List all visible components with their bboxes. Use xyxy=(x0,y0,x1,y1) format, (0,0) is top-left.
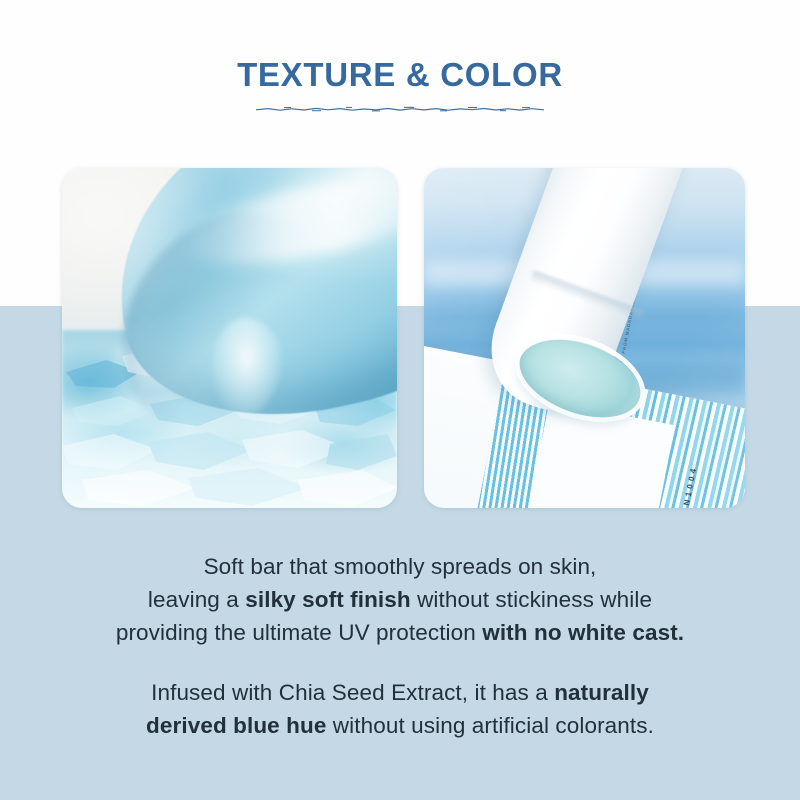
page-title: TEXTURE & COLOR xyxy=(0,55,800,95)
copy-line-5: derived blue hue without using artificia… xyxy=(0,709,800,742)
copy-line-5-emphasis: derived blue hue xyxy=(146,713,326,738)
copy-line-4: Infused with Chia Seed Extract, it has a… xyxy=(0,676,800,709)
copy-line-3: providing the ultimate UV protection wit… xyxy=(0,616,800,649)
copy-line-4-pre: Infused with Chia Seed Extract, it has a xyxy=(151,680,554,705)
balm-macro-photo xyxy=(62,168,397,508)
copy-line-2-pre: leaving a xyxy=(148,587,245,612)
product-photo-card-right[interactable]: MADAGASCAR CENTELLA HYALU-CICA SILKY-FIT… xyxy=(424,168,745,508)
sun-stick-photo: MADAGASCAR CENTELLA HYALU-CICA SILKY-FIT… xyxy=(424,168,745,508)
copy-line-1-text: Soft bar that smoothly spreads on skin, xyxy=(204,554,597,579)
copy-line-3-emphasis: with no white cast. xyxy=(482,620,684,645)
section-header: TEXTURE & COLOR xyxy=(0,55,800,113)
title-underline-decoration xyxy=(254,104,546,113)
texture-photo-card-left[interactable] xyxy=(62,168,397,508)
copy-line-2-emphasis: silky soft finish xyxy=(245,587,410,612)
copy-line-2: leaving a silky soft finish without stic… xyxy=(0,583,800,616)
product-detail-page: TEXTURE & COLOR xyxy=(0,0,800,800)
copy-line-4-emphasis: naturally xyxy=(554,680,649,705)
copy-line-5-post: without using artificial colorants. xyxy=(326,713,654,738)
description-paragraph-two: Infused with Chia Seed Extract, it has a… xyxy=(0,676,800,742)
copy-line-3-pre: providing the ultimate UV protection xyxy=(116,620,482,645)
copy-line-1: Soft bar that smoothly spreads on skin, xyxy=(0,550,800,583)
description-paragraph-one: Soft bar that smoothly spreads on skin, … xyxy=(0,550,800,649)
copy-line-2-post: without stickiness while xyxy=(411,587,652,612)
